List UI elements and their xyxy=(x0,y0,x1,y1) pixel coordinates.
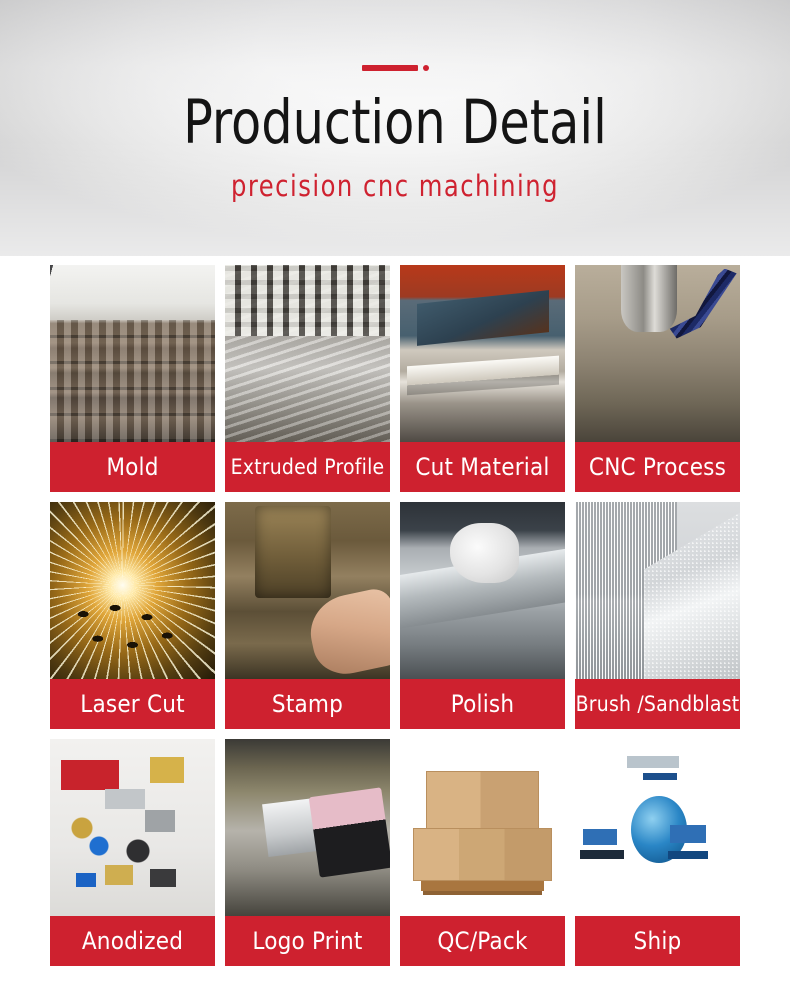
process-card[interactable]: Logo Print xyxy=(225,739,390,966)
process-card-grid: MoldExtruded ProfileCut MaterialCNC Proc… xyxy=(0,256,790,966)
process-card[interactable]: Ship xyxy=(575,739,740,966)
page-header: Production Detail precision cnc machinin… xyxy=(0,0,790,256)
decoration-bar-icon xyxy=(362,65,418,71)
process-card-label: Brush /Sandblast xyxy=(575,679,740,729)
cnc-process-photo xyxy=(575,265,740,442)
qc-pack-photo-layer xyxy=(400,739,565,916)
brush-sandblast-photo xyxy=(575,502,740,679)
mold-photo-layer xyxy=(50,265,215,442)
process-card[interactable]: Extruded Profile xyxy=(225,265,390,492)
process-card[interactable]: Brush /Sandblast xyxy=(575,502,740,729)
process-card[interactable]: Stamp xyxy=(225,502,390,729)
mold-photo xyxy=(50,265,215,442)
polish-photo xyxy=(400,502,565,679)
page-title: Production Detail xyxy=(40,92,751,153)
logo-print-photo-layer xyxy=(225,739,390,916)
process-card-label: Ship xyxy=(575,916,740,966)
process-card-label: Logo Print xyxy=(225,916,390,966)
stamp-photo-layer xyxy=(225,502,390,679)
decoration-dot-icon xyxy=(423,65,429,71)
process-row: AnodizedLogo PrintQC/PackShip xyxy=(0,739,790,966)
process-card[interactable]: Laser Cut xyxy=(50,502,215,729)
cnc-process-photo-layer xyxy=(575,265,740,442)
process-card[interactable]: Polish xyxy=(400,502,565,729)
ship-photo xyxy=(575,739,740,916)
logo-print-photo xyxy=(225,739,390,916)
process-card-label: CNC Process xyxy=(575,442,740,492)
process-row: Laser CutStampPolishBrush /Sandblast xyxy=(0,502,790,729)
laser-cut-photo-layer xyxy=(50,502,215,679)
process-card-label: Anodized xyxy=(50,916,215,966)
process-card[interactable]: Cut Material xyxy=(400,265,565,492)
process-card-label: Extruded Profile xyxy=(225,442,390,492)
polish-photo-layer xyxy=(400,502,565,679)
cut-material-photo xyxy=(400,265,565,442)
process-row: MoldExtruded ProfileCut MaterialCNC Proc… xyxy=(0,265,790,492)
process-card-label: QC/Pack xyxy=(400,916,565,966)
process-card[interactable]: QC/Pack xyxy=(400,739,565,966)
process-card-label: Polish xyxy=(400,679,565,729)
process-card-label: Stamp xyxy=(225,679,390,729)
extruded-profile-photo-layer xyxy=(225,265,390,442)
qc-pack-photo xyxy=(400,739,565,916)
process-card[interactable]: CNC Process xyxy=(575,265,740,492)
stamp-photo xyxy=(225,502,390,679)
process-card[interactable]: Mold xyxy=(50,265,215,492)
cut-material-photo-layer xyxy=(400,265,565,442)
process-card-label: Cut Material xyxy=(400,442,565,492)
laser-cut-photo xyxy=(50,502,215,679)
anodized-photo-layer xyxy=(50,739,215,916)
extruded-profile-photo xyxy=(225,265,390,442)
ship-photo-layer xyxy=(575,739,740,916)
brush-sandblast-photo-layer xyxy=(575,502,740,679)
process-card[interactable]: Anodized xyxy=(50,739,215,966)
process-card-label: Mold xyxy=(50,442,215,492)
header-decoration xyxy=(0,64,790,71)
page-subtitle: precision cnc machining xyxy=(28,169,763,203)
anodized-photo xyxy=(50,739,215,916)
process-card-label: Laser Cut xyxy=(50,679,215,729)
